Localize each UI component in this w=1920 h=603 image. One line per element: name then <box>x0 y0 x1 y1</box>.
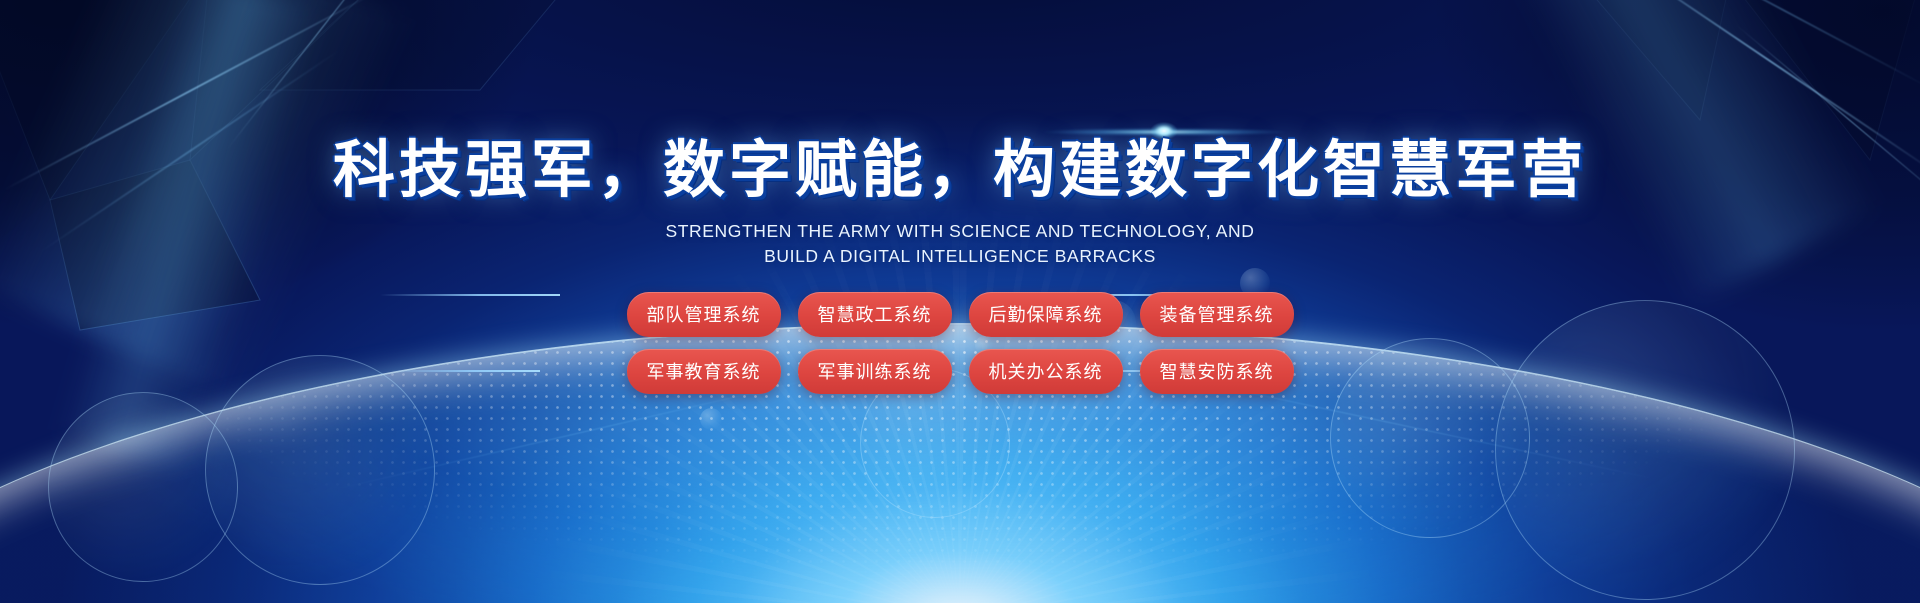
system-tag-row-2: 军事教育系统 军事训练系统 机关办公系统 智慧安防系统 <box>627 349 1294 394</box>
system-tag-button[interactable]: 军事教育系统 <box>627 349 781 394</box>
system-tag-row-1: 部队管理系统 智慧政工系统 后勤保障系统 装备管理系统 <box>627 292 1294 337</box>
system-tag-button[interactable]: 军事训练系统 <box>798 349 952 394</box>
subtitle-line-1: STRENGTHEN THE ARMY WITH SCIENCE AND TEC… <box>665 219 1254 244</box>
system-tag-button[interactable]: 机关办公系统 <box>969 349 1123 394</box>
hero-banner: 科技强军，数字赋能，构建数字化智慧军营 STRENGTHEN THE ARMY … <box>0 0 1920 603</box>
system-tag-group: 部队管理系统 智慧政工系统 后勤保障系统 装备管理系统 军事教育系统 军事训练系… <box>627 292 1294 394</box>
system-tag-button[interactable]: 后勤保障系统 <box>969 292 1123 337</box>
banner-content: 科技强军，数字赋能，构建数字化智慧军营 STRENGTHEN THE ARMY … <box>0 0 1920 603</box>
system-tag-button[interactable]: 部队管理系统 <box>627 292 781 337</box>
page-title: 科技强军，数字赋能，构建数字化智慧军营 <box>333 138 1587 205</box>
system-tag-button[interactable]: 智慧政工系统 <box>798 292 952 337</box>
subtitle-line-2: BUILD A DIGITAL INTELLIGENCE BARRACKS <box>665 244 1254 269</box>
subtitle: STRENGTHEN THE ARMY WITH SCIENCE AND TEC… <box>665 219 1254 270</box>
system-tag-button[interactable]: 智慧安防系统 <box>1140 349 1294 394</box>
system-tag-button[interactable]: 装备管理系统 <box>1140 292 1294 337</box>
